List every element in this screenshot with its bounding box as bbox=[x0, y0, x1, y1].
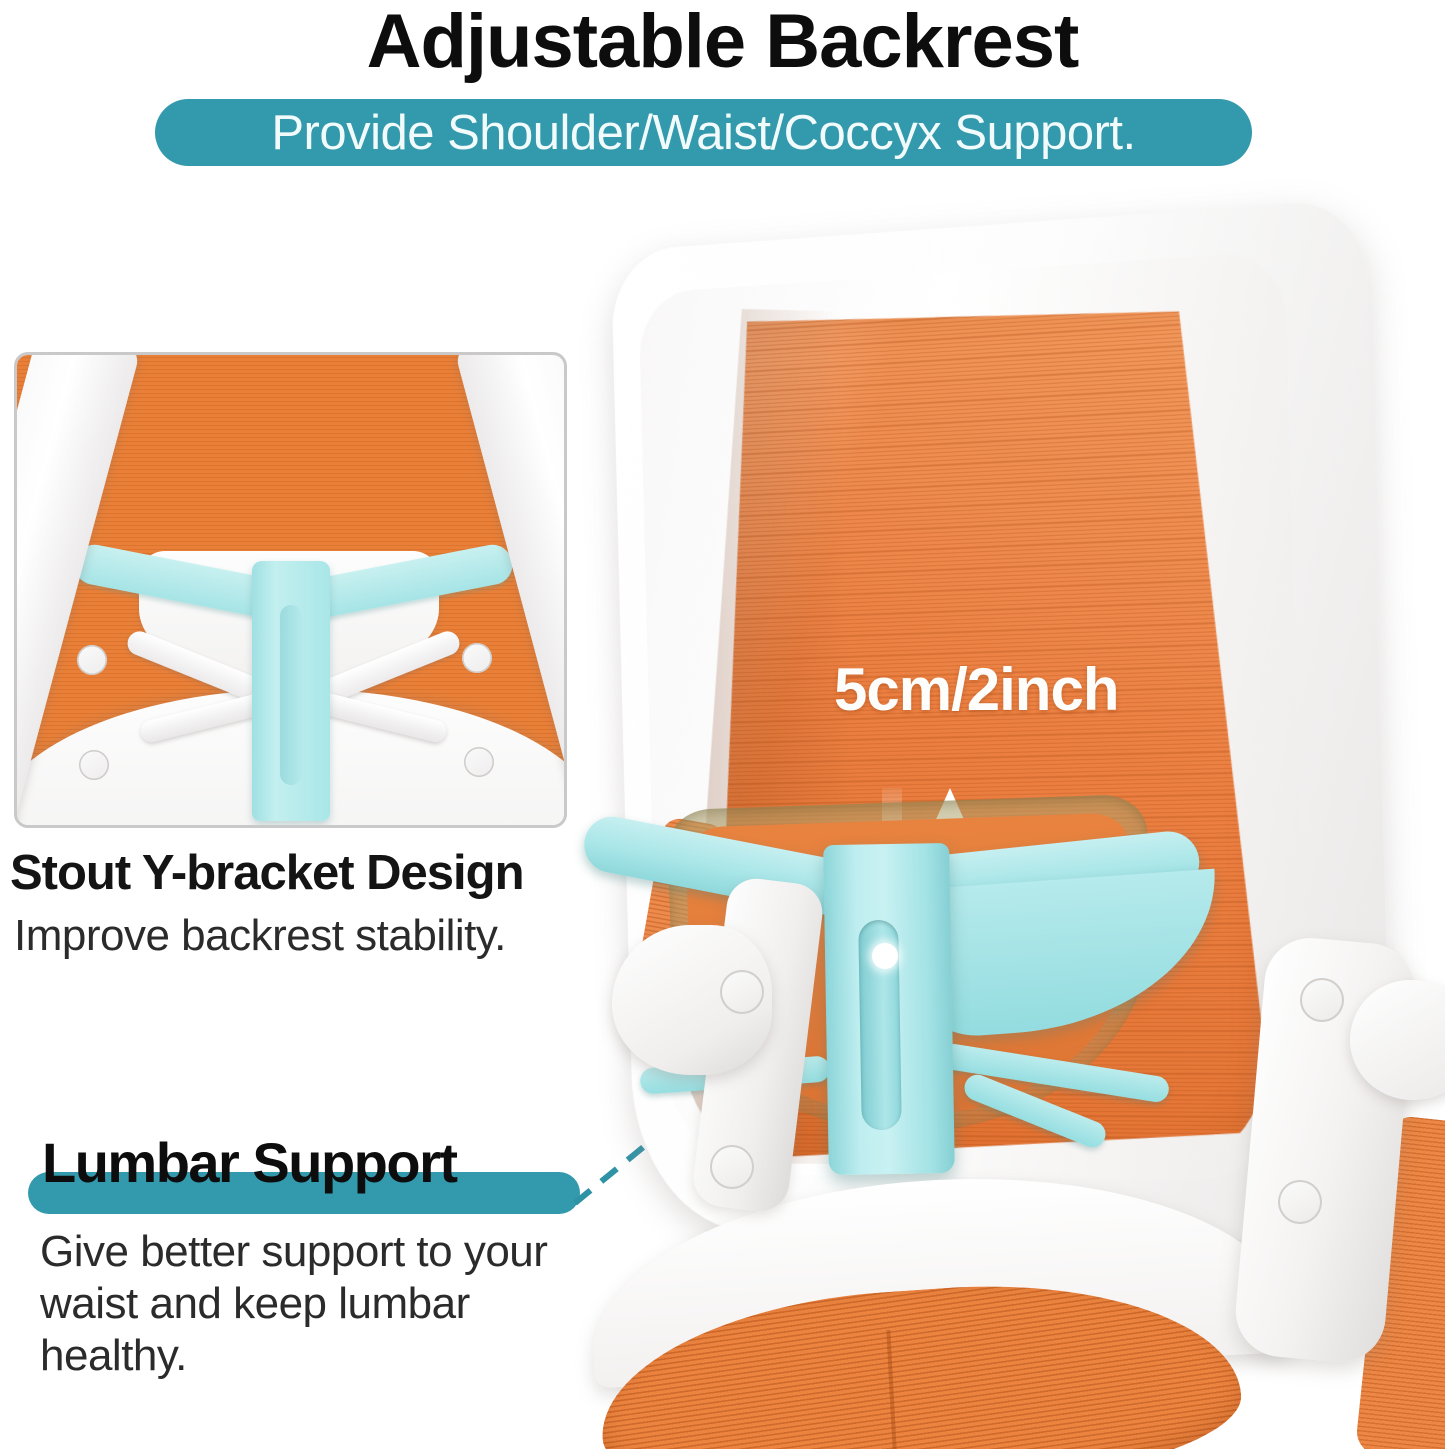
inset-screw-cap bbox=[464, 747, 494, 777]
lumbar-leader-dot bbox=[872, 943, 898, 969]
subtitle-text: Provide Shoulder/Waist/Coccyx Support. bbox=[155, 99, 1252, 166]
ybracket-description: Improve backrest stability. bbox=[14, 911, 506, 961]
screw-cap-icon bbox=[720, 970, 764, 1014]
page-title: Adjustable Backrest bbox=[0, 0, 1445, 85]
inset-screw-cap bbox=[462, 643, 492, 673]
chair-photo: 5cm/2inch bbox=[560, 180, 1445, 1449]
adjust-range-label: 5cm/2inch bbox=[834, 655, 1118, 724]
inset-photo bbox=[17, 355, 564, 825]
ybracket-heading: Stout Y-bracket Design bbox=[10, 845, 524, 901]
inset-screw-cap bbox=[77, 645, 107, 675]
screw-cap-icon bbox=[710, 1145, 754, 1189]
inset-bracket-groove bbox=[280, 605, 302, 785]
screw-cap-icon bbox=[1278, 1180, 1322, 1224]
screw-cap-icon bbox=[1300, 978, 1344, 1022]
subtitle-banner: Provide Shoulder/Waist/Coccyx Support. bbox=[155, 99, 1252, 166]
lumbar-heading: Lumbar Support bbox=[42, 1130, 457, 1195]
lumbar-description: Give better support to your waist and ke… bbox=[40, 1226, 580, 1382]
ybracket-inset-panel bbox=[14, 352, 567, 828]
inset-screw-cap bbox=[79, 750, 109, 780]
